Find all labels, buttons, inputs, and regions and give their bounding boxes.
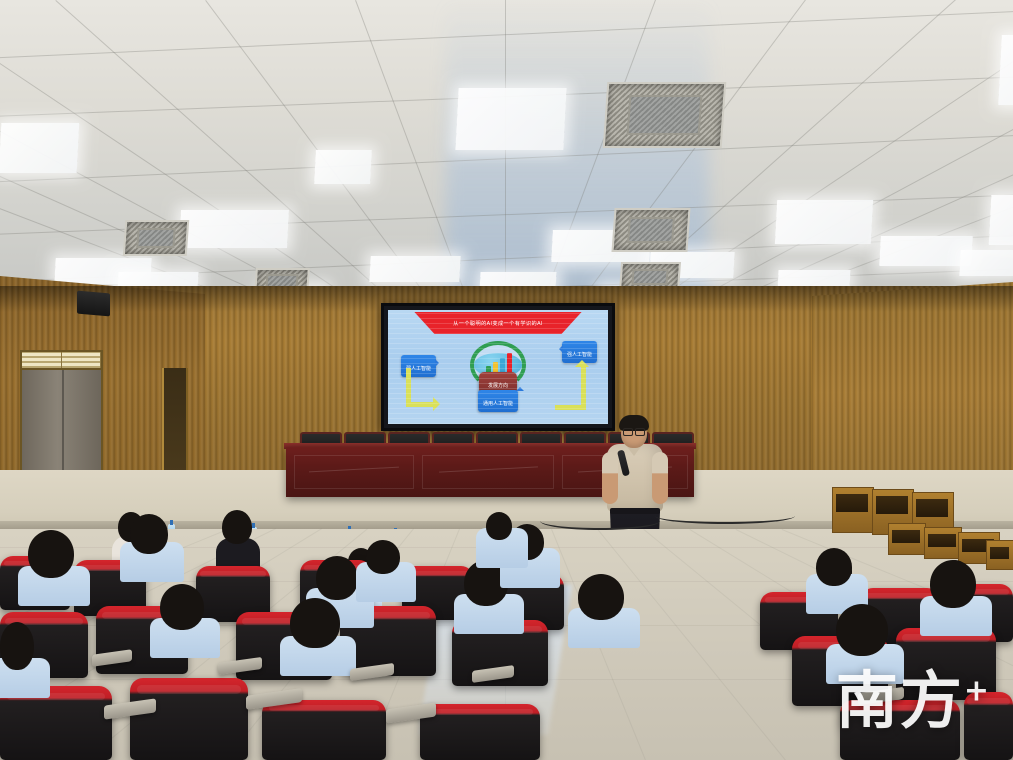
student-head (0, 622, 34, 670)
glasses-icon (623, 428, 645, 434)
led-scanlines (388, 310, 608, 424)
auditorium-seat (262, 700, 386, 760)
watermark-suffix: + (964, 673, 991, 708)
slide-canvas: 从一个聪明的AI变成一个有学识的AI 发展方向 弱人工智能 强人工智能 通用人工… (388, 310, 608, 424)
ceiling-grid-line (505, 0, 506, 300)
wall-speaker-icon (77, 291, 110, 317)
stacked-desk (924, 527, 962, 559)
student-head (130, 514, 168, 554)
air-vent-inner (631, 269, 668, 286)
ceiling (0, 0, 1013, 300)
stacked-desk (832, 487, 874, 533)
ceiling-light-panel (314, 150, 372, 184)
audience-member-head (222, 510, 252, 544)
led-presentation-screen: 从一个聪明的AI变成一个有学识的AI 发展方向 弱人工智能 强人工智能 通用人工… (381, 303, 615, 431)
student-head (578, 574, 624, 620)
ceiling-light-panel (998, 35, 1013, 105)
floor-cable (655, 508, 795, 524)
desk-shelf (990, 547, 1009, 559)
ceiling-light-panel (989, 195, 1013, 245)
table-panel (422, 455, 554, 489)
student-head (28, 530, 74, 578)
table-panel (294, 455, 414, 489)
floor-cable (540, 512, 660, 530)
desk-shelf (836, 494, 868, 512)
student-head (366, 540, 400, 574)
air-vent (603, 82, 727, 148)
speaker-arm-right (652, 452, 668, 504)
student-head (816, 548, 852, 586)
ceiling-light-panel (179, 210, 289, 248)
ceiling-light-panel (369, 256, 460, 282)
stacked-desk (986, 540, 1013, 570)
air-vent (611, 208, 690, 252)
student-head (930, 560, 976, 608)
student-head (486, 512, 512, 540)
student-head (316, 556, 358, 600)
student-head (836, 604, 888, 656)
stacked-desk (888, 523, 926, 555)
air-vent-inner (626, 95, 702, 135)
auditorium-seat (420, 704, 540, 760)
watermark-text: 南方 (836, 664, 964, 737)
speaker-arm-left (602, 452, 618, 504)
student-head (290, 598, 340, 648)
student-head (160, 584, 204, 630)
watermark: 南方+ (836, 670, 991, 732)
auditorium-photo: 从一个聪明的AI变成一个有学识的AI 发展方向 弱人工智能 强人工智能 通用人工… (0, 0, 1013, 760)
desk-shelf (928, 534, 956, 547)
auditorium-seat (130, 678, 248, 760)
desk-shelf (916, 499, 948, 517)
desk-shelf (892, 530, 920, 543)
air-vent-inner (136, 228, 176, 249)
ceiling-light-panel (775, 200, 873, 244)
air-vent (123, 220, 190, 256)
ceiling-light-panel (879, 236, 973, 266)
ceiling-light-panel (0, 123, 79, 173)
ceiling-light-panel (455, 88, 566, 150)
ceiling-light-panel (959, 250, 1013, 276)
air-vent-inner (627, 217, 675, 243)
desk-shelf (876, 496, 908, 514)
